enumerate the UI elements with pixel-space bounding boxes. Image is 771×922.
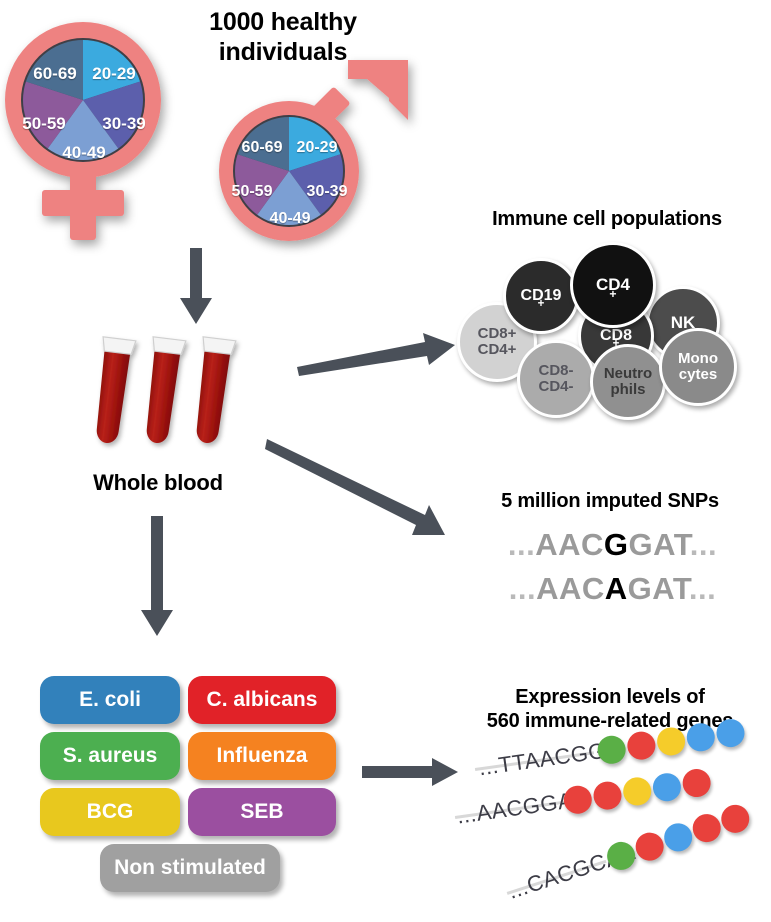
blood-tubes [96, 335, 256, 465]
arrow-right-blood-to-immune-cells [295, 325, 460, 375]
stimulation-s-aureus[interactable]: S. aureus [40, 732, 180, 780]
gene-bead [621, 776, 653, 808]
snp-row-1: ...AACGGAT... [470, 527, 755, 563]
figure-canvas: 1000 healthy individuals [0, 0, 771, 922]
blood-tube [90, 337, 136, 445]
stimulation-bcg[interactable]: BCG [40, 788, 180, 836]
gene-expression-title-line1: Expression levels of [452, 686, 768, 710]
female-age-pie [23, 40, 143, 160]
immune-cell-label-cd8pos: CD8+ [478, 326, 517, 342]
snps-title: 5 million imputed SNPs [460, 490, 760, 514]
immune-cell-label-cd4neg: CD4- [538, 379, 573, 395]
gene-bead [626, 730, 658, 762]
gene-strands: ...TTAACGG ...AACGGAT ...CACGCAA [455, 730, 771, 915]
immune-cell-cd8neg-cd4neg: CD8- CD4- [517, 340, 595, 418]
gene-bead [651, 771, 683, 803]
snp-row2-prefix: ... [509, 571, 536, 606]
arrow-diagonal-blood-to-snps [265, 437, 460, 547]
whole-blood-label: Whole blood [58, 470, 258, 496]
gene-bead [592, 780, 624, 812]
gene-bead [718, 801, 753, 836]
arrow-right-stimulations-to-genes [362, 758, 460, 786]
gene-bead [655, 726, 687, 758]
immune-cell-label-cd8neg: CD8- [538, 363, 573, 379]
immune-cell-label-mono: Mono [678, 351, 718, 367]
immune-cell-label-cytes: cytes [678, 367, 718, 383]
immune-cell-cd4: CD4+ [570, 242, 656, 328]
snp-row1-left: AAC [535, 527, 604, 562]
immune-cell-cluster: CD19+ CD4+ NK CD8+ CD8+ CD4+ CD8- CD4- [455, 240, 755, 430]
immune-cell-neutrophils: Neutro phils [590, 344, 666, 420]
blood-tube [140, 337, 186, 445]
stimulation-c-albicans[interactable]: C. albicans [188, 676, 336, 724]
arrow-down-blood-to-stimulations [139, 516, 175, 638]
stimulation-non-stimulated[interactable]: Non stimulated [100, 844, 280, 892]
stimulation-conditions: E. coli C. albicans S. aureus Influenza … [40, 676, 340, 896]
snp-row2-variant: A [605, 571, 628, 606]
immune-cell-monocytes: Mono cytes [659, 328, 737, 406]
female-gender-symbol: 20-29 30-39 40-49 50-59 60-69 [8, 12, 198, 242]
snp-row-2: ...AACAGAT... [470, 571, 755, 607]
snp-row1-prefix: ... [508, 527, 535, 562]
snp-row1-right: GAT [629, 527, 690, 562]
immune-cell-label-neutro: Neutro [604, 366, 652, 382]
strand-1-sequence: ...TTAACGG [477, 738, 607, 782]
snp-row1-variant: G [604, 527, 629, 562]
snp-row2-suffix: ... [689, 571, 716, 606]
stimulation-e-coli[interactable]: E. coli [40, 676, 180, 724]
immune-cell-cd19: CD19+ [503, 258, 579, 334]
blood-tube [190, 337, 236, 445]
male-age-pie [235, 117, 343, 225]
stimulation-seb[interactable]: SEB [188, 788, 336, 836]
gene-bead [661, 820, 696, 855]
arrow-down-cohort-to-blood [178, 248, 214, 326]
immune-cell-label-phils: phils [604, 382, 652, 398]
cohort-title-line1: 1000 healthy [178, 8, 388, 38]
snp-row1-suffix: ... [690, 527, 717, 562]
gene-bead [681, 767, 713, 799]
snp-sequences: ...AACGGAT... ...AACAGAT... [470, 527, 755, 617]
immune-cell-label-cd4pos: CD4+ [478, 342, 517, 358]
snp-row2-left: AAC [536, 571, 605, 606]
snp-row2-right: GAT [628, 571, 689, 606]
immune-cell-populations-title: Immune cell populations [452, 208, 762, 232]
stimulation-influenza[interactable]: Influenza [188, 732, 336, 780]
male-gender-symbol: 20-29 30-39 40-49 50-59 60-69 [196, 58, 426, 248]
gene-bead [685, 721, 717, 753]
gene-bead [689, 810, 724, 845]
